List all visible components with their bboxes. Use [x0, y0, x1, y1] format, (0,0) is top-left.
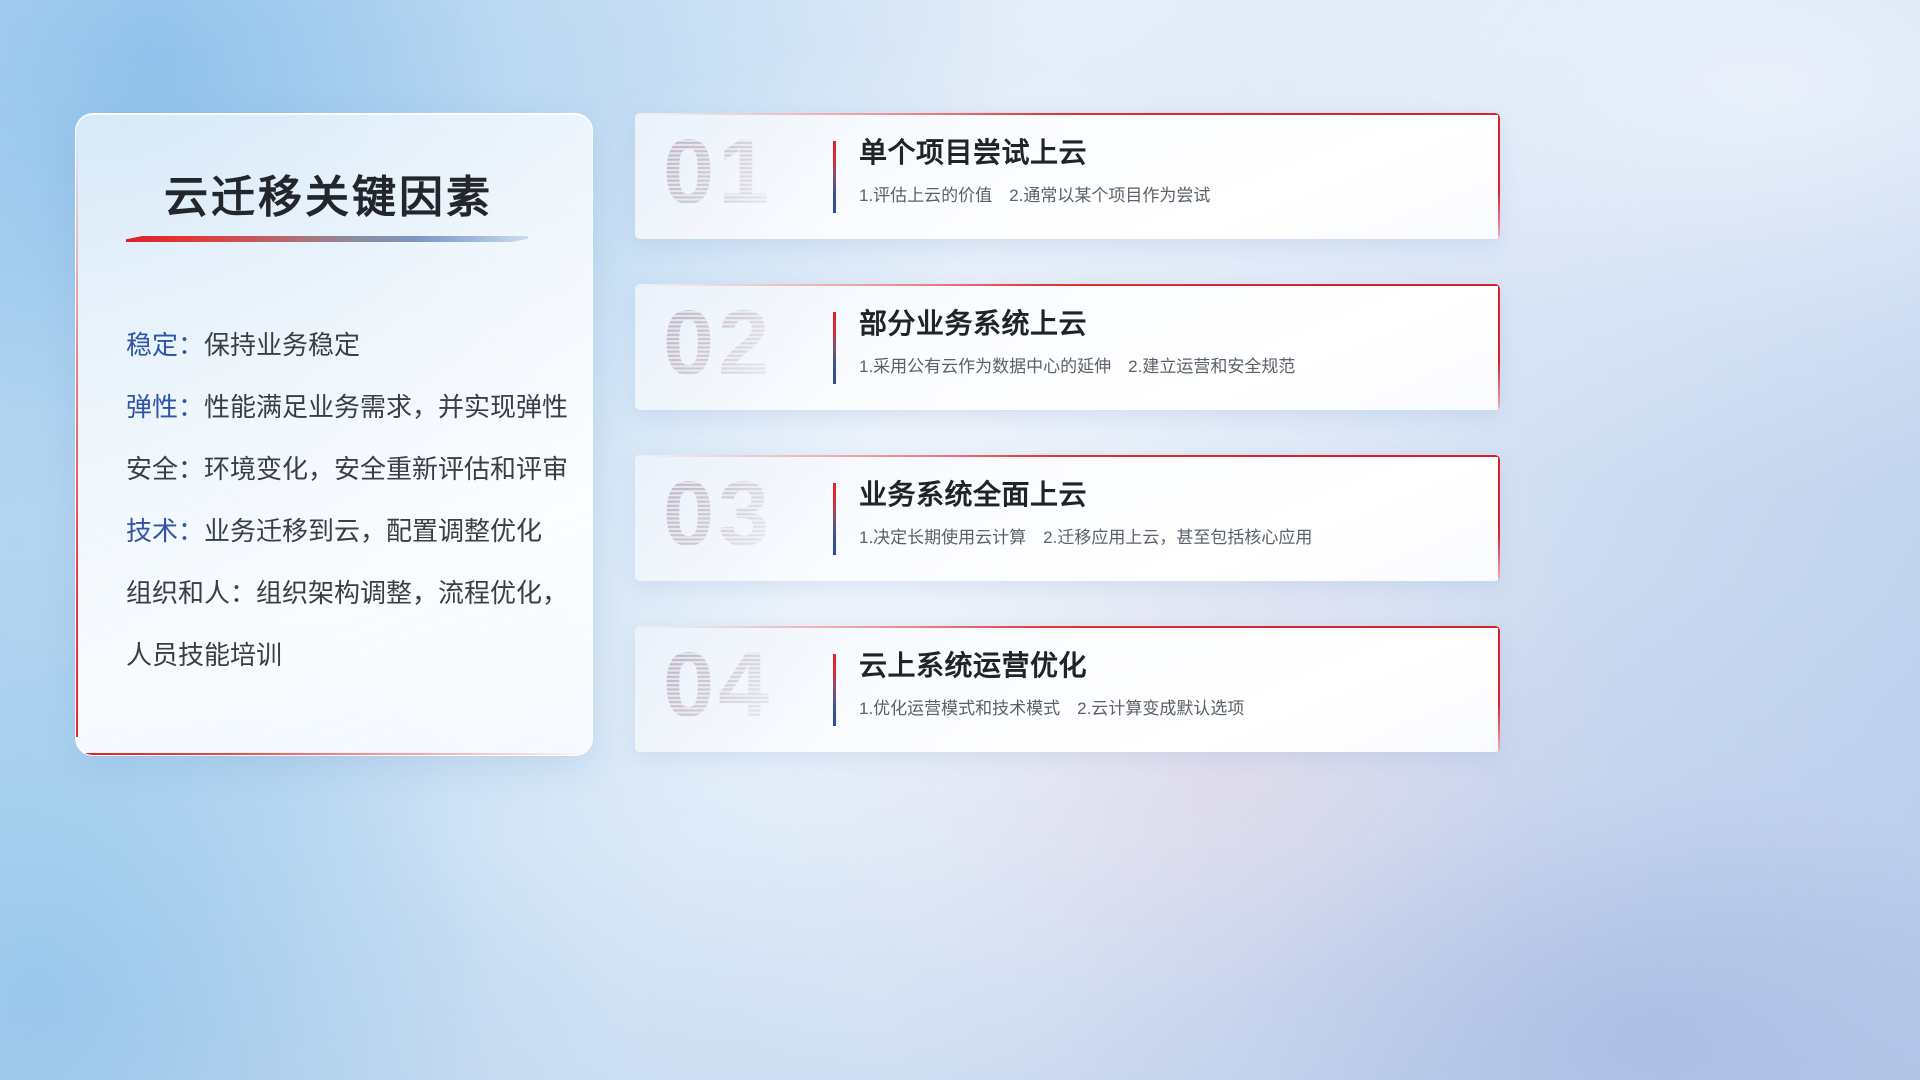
factor-value: 环境变化，安全重新评估和评审 — [204, 454, 568, 484]
page-title: 云迁移关键因素 — [164, 161, 493, 225]
factor-label: 稳定： — [126, 330, 204, 360]
step-accent-bar — [833, 654, 836, 726]
svg-text:02: 02 — [663, 296, 773, 394]
step-title: 云上系统运营优化 — [859, 646, 1474, 686]
step-accent-bar — [833, 483, 836, 555]
svg-text:01: 01 — [663, 125, 773, 223]
title-underline-accent — [126, 236, 528, 242]
step-title: 部分业务系统上云 — [859, 304, 1474, 344]
step-subtitle: 1.决定长期使用云计算 2.迁移应用上云，甚至包括核心应用 — [859, 525, 1474, 551]
factor-row: 技术：业务迁移到云，配置调整优化 — [126, 500, 566, 562]
step-accent-bar — [833, 141, 836, 213]
factor-label: 技术： — [126, 516, 204, 546]
step-number-icon: 0202 — [663, 296, 828, 396]
step-card[interactable]: 040404云上系统运营优化1.优化运营模式和技术模式 2.云计算变成默认选项 — [635, 626, 1500, 752]
step-accent-bar — [833, 312, 836, 384]
svg-text:03: 03 — [663, 467, 773, 565]
factor-row: 安全：环境变化，安全重新评估和评审 — [126, 438, 566, 500]
migration-steps-list: 010101单个项目尝试上云1.评估上云的价值 2.通常以某个项目作为尝试020… — [635, 113, 1500, 797]
factor-row: 人员技能培训 — [126, 624, 566, 686]
factor-row: 组织和人：组织架构调整，流程优化， — [126, 562, 566, 624]
factor-label: 组织和人： — [126, 578, 256, 608]
factor-value: 业务迁移到云，配置调整优化 — [204, 516, 542, 546]
key-factors-panel: 云迁移关键因素 稳定：保持业务稳定弹性：性能满足业务需求，并实现弹性安全：环境变… — [75, 113, 593, 756]
step-subtitle: 1.采用公有云作为数据中心的延伸 2.建立运营和安全规范 — [859, 354, 1474, 380]
step-subtitle: 1.优化运营模式和技术模式 2.云计算变成默认选项 — [859, 696, 1474, 722]
step-number-icon: 0303 — [663, 467, 828, 567]
step-number-icon: 0404 — [663, 638, 828, 738]
factor-value: 性能满足业务需求，并实现弹性 — [204, 392, 568, 422]
step-card[interactable]: 030303业务系统全面上云1.决定长期使用云计算 2.迁移应用上云，甚至包括核… — [635, 455, 1500, 581]
factor-value: 人员技能培训 — [126, 640, 282, 670]
step-card[interactable]: 010101单个项目尝试上云1.评估上云的价值 2.通常以某个项目作为尝试 — [635, 113, 1500, 239]
step-title: 业务系统全面上云 — [859, 475, 1474, 515]
factor-row: 弹性：性能满足业务需求，并实现弹性 — [126, 376, 566, 438]
factor-value: 组织架构调整，流程优化， — [256, 578, 568, 608]
slide-stage: 云迁移关键因素 稳定：保持业务稳定弹性：性能满足业务需求，并实现弹性安全：环境变… — [0, 0, 1920, 1080]
step-title: 单个项目尝试上云 — [859, 133, 1474, 173]
step-text-block: 单个项目尝试上云1.评估上云的价值 2.通常以某个项目作为尝试 — [859, 133, 1474, 209]
step-card[interactable]: 020202部分业务系统上云1.采用公有云作为数据中心的延伸 2.建立运营和安全… — [635, 284, 1500, 410]
step-subtitle: 1.评估上云的价值 2.通常以某个项目作为尝试 — [859, 183, 1474, 209]
step-text-block: 部分业务系统上云1.采用公有云作为数据中心的延伸 2.建立运营和安全规范 — [859, 304, 1474, 380]
step-text-block: 业务系统全面上云1.决定长期使用云计算 2.迁移应用上云，甚至包括核心应用 — [859, 475, 1474, 551]
factor-value: 保持业务稳定 — [204, 330, 360, 360]
key-factors-list: 稳定：保持业务稳定弹性：性能满足业务需求，并实现弹性安全：环境变化，安全重新评估… — [126, 314, 566, 686]
factor-label: 安全： — [126, 454, 204, 484]
step-text-block: 云上系统运营优化1.优化运营模式和技术模式 2.云计算变成默认选项 — [859, 646, 1474, 722]
svg-text:04: 04 — [663, 638, 773, 736]
step-number-icon: 0101 — [663, 125, 828, 225]
factor-label: 弹性： — [126, 392, 204, 422]
factor-row: 稳定：保持业务稳定 — [126, 314, 566, 376]
